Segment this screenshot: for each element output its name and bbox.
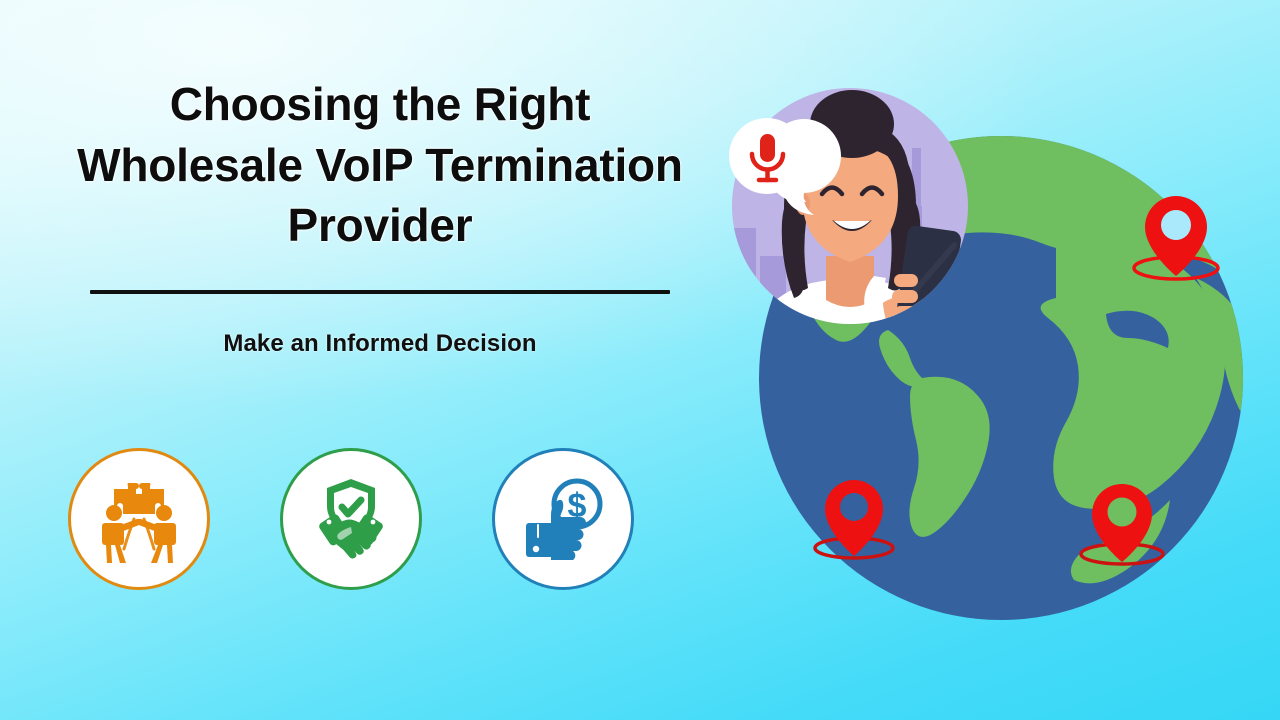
- poster-canvas: Choosing the Right Wholesale VoIP Termin…: [0, 0, 1280, 720]
- badge-value[interactable]: $: [492, 448, 634, 590]
- feature-badge-row: $: [68, 448, 668, 590]
- badge-trust[interactable]: [280, 448, 422, 590]
- title-divider: [90, 290, 670, 294]
- globe-illustration: [726, 78, 1266, 638]
- thumbs-up-dollar-icon: $: [511, 467, 615, 571]
- handshake-shield-check-icon: [299, 467, 403, 571]
- page-title: Choosing the Right Wholesale VoIP Termin…: [40, 74, 720, 256]
- people-puzzle-icon: [87, 467, 191, 571]
- hero-text-block: Choosing the Right Wholesale VoIP Termin…: [40, 74, 720, 358]
- hero-subtitle: Make an Informed Decision: [40, 330, 720, 358]
- badge-partnership[interactable]: [68, 448, 210, 590]
